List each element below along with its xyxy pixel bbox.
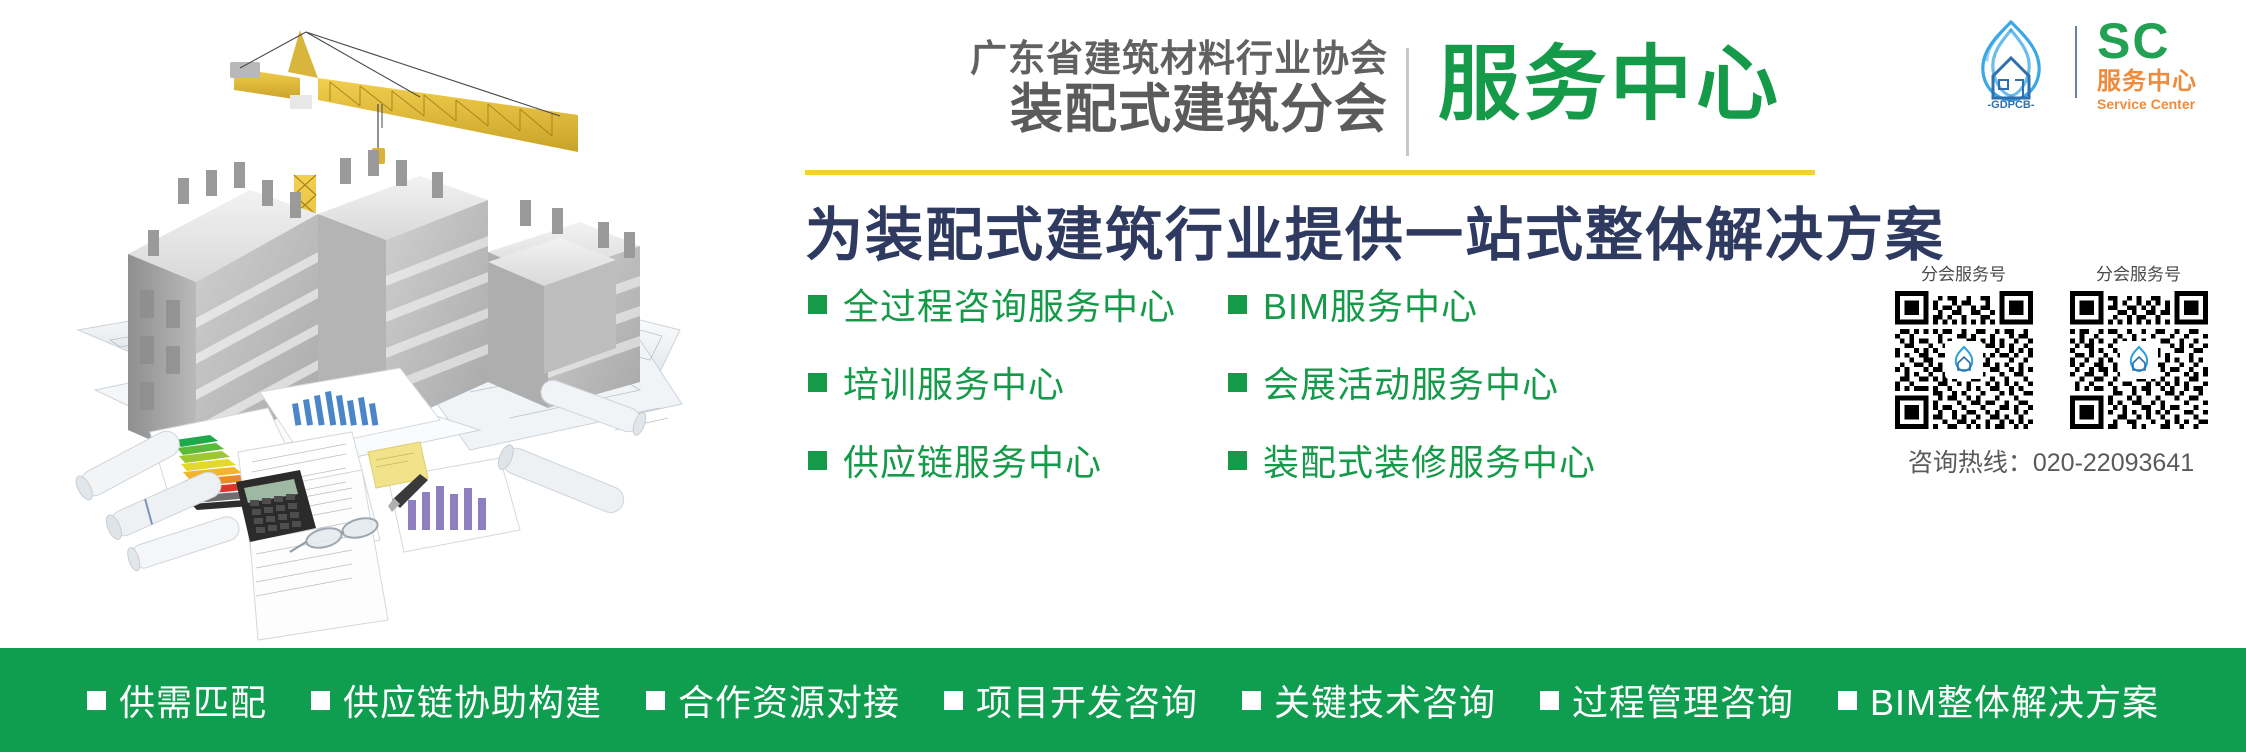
bullet-square-icon bbox=[944, 691, 963, 710]
footer-item-label: 项目开发咨询 bbox=[976, 674, 1198, 726]
service-item-supply-chain[interactable]: 供应链服务中心 bbox=[808, 434, 1228, 486]
promotional-banner: 广东省建筑材料行业协会 装配式建筑分会 服务中心 为装配式建筑行业提供一站式整体… bbox=[0, 0, 2246, 752]
construction-site-illustration bbox=[0, 0, 690, 650]
qr-codes-row bbox=[1876, 291, 2226, 429]
header-divider bbox=[1406, 48, 1409, 156]
sc-logo-block: SC 服务中心 Service Center bbox=[2097, 18, 2227, 113]
sc-wordmark: SC bbox=[2097, 18, 2227, 66]
gdpcb-house-flame-icon: -GDPCB- bbox=[1955, 14, 2067, 110]
qr-code-right[interactable] bbox=[2070, 291, 2208, 429]
tagline: 为装配式建筑行业提供一站式整体解决方案 bbox=[805, 188, 1945, 272]
service-center-list: 全过程咨询服务中心 BIM服务中心 培训服务中心 会展活动服务中心 bbox=[808, 278, 1868, 512]
bullet-square-icon bbox=[1228, 295, 1247, 314]
footer-item-supply-demand-matching[interactable]: 供需匹配 bbox=[87, 674, 267, 726]
bullet-square-icon bbox=[1228, 373, 1247, 392]
service-row: 供应链服务中心 装配式装修服务中心 bbox=[808, 434, 1868, 486]
association-name-line2: 装配式建筑分会 bbox=[808, 82, 1388, 138]
bullet-square-icon bbox=[808, 295, 827, 314]
service-item-label: 全过程咨询服务中心 bbox=[843, 278, 1176, 330]
qr-cell-left bbox=[1876, 291, 2051, 429]
bullet-square-icon bbox=[1242, 691, 1261, 710]
footer-item-key-technology-consulting[interactable]: 关键技术咨询 bbox=[1242, 674, 1496, 726]
footer-item-bim-overall-solution[interactable]: BIM整体解决方案 bbox=[1838, 674, 2159, 726]
hotline-text: 咨询热线：020-22093641 bbox=[1876, 443, 2226, 479]
footer-item-partner-resource-matching[interactable]: 合作资源对接 bbox=[646, 674, 900, 726]
brand-logo[interactable]: -GDPCB- SC 服务中心 Service Center bbox=[1955, 12, 2225, 112]
service-row: 培训服务中心 会展活动服务中心 bbox=[808, 356, 1868, 408]
service-item-prefab-decoration[interactable]: 装配式装修服务中心 bbox=[1228, 434, 1768, 486]
service-item-label: 会展活动服务中心 bbox=[1263, 356, 1559, 408]
qr-cell-right bbox=[2051, 291, 2226, 429]
yellow-divider-rule bbox=[805, 170, 1815, 175]
footer-item-label: 合作资源对接 bbox=[678, 674, 900, 726]
association-name: 广东省建筑材料行业协会 装配式建筑分会 bbox=[808, 40, 1388, 138]
service-item-exhibition-events[interactable]: 会展活动服务中心 bbox=[1228, 356, 1768, 408]
footer-item-label: 供应链协助构建 bbox=[343, 674, 602, 726]
service-item-label: 供应链服务中心 bbox=[843, 434, 1102, 486]
association-name-line1: 广东省建筑材料行业协会 bbox=[808, 40, 1388, 77]
qr-labels: 分会服务号 分会服务号 bbox=[1876, 260, 2226, 285]
qr-center-logo-icon bbox=[2120, 341, 2158, 379]
bullet-square-icon bbox=[646, 691, 665, 710]
qr-contact-block: 分会服务号 分会服务号 bbox=[1876, 260, 2226, 479]
logo-divider bbox=[2075, 26, 2077, 98]
footer-capability-bar: 供需匹配 供应链协助构建 合作资源对接 项目开发咨询 关键技术咨询 过程管理咨询 bbox=[0, 648, 2246, 752]
bullet-square-icon bbox=[1838, 691, 1857, 710]
bullet-square-icon bbox=[87, 691, 106, 710]
footer-item-process-management-consulting[interactable]: 过程管理咨询 bbox=[1540, 674, 1794, 726]
bullet-square-icon bbox=[808, 451, 827, 470]
qr-code-left[interactable] bbox=[1895, 291, 2033, 429]
bullet-square-icon bbox=[808, 373, 827, 392]
service-item-label: BIM服务中心 bbox=[1263, 278, 1478, 330]
sc-chinese-label: 服务中心 bbox=[2097, 68, 2227, 97]
footer-item-project-development-consulting[interactable]: 项目开发咨询 bbox=[944, 674, 1198, 726]
service-center-title: 服务中心 bbox=[1438, 42, 1782, 128]
qr-center-logo-icon bbox=[1945, 341, 1983, 379]
footer-item-label: 供需匹配 bbox=[119, 674, 267, 726]
service-item-label: 装配式装修服务中心 bbox=[1263, 434, 1596, 486]
service-row: 全过程咨询服务中心 BIM服务中心 bbox=[808, 278, 1868, 330]
sc-english-label: Service Center bbox=[2097, 96, 2227, 113]
footer-items: 供需匹配 供应链协助构建 合作资源对接 项目开发咨询 关键技术咨询 过程管理咨询 bbox=[65, 674, 2181, 726]
footer-item-label: 关键技术咨询 bbox=[1274, 674, 1496, 726]
service-item-training[interactable]: 培训服务中心 bbox=[808, 356, 1228, 408]
qr-label-right: 分会服务号 bbox=[2051, 260, 2226, 285]
footer-item-label: 过程管理咨询 bbox=[1572, 674, 1794, 726]
bullet-square-icon bbox=[311, 691, 330, 710]
bullet-square-icon bbox=[1228, 451, 1247, 470]
gdpcb-wordmark: -GDPCB- bbox=[1987, 99, 2034, 110]
service-item-bim[interactable]: BIM服务中心 bbox=[1228, 278, 1768, 330]
service-item-full-process-consulting[interactable]: 全过程咨询服务中心 bbox=[808, 278, 1228, 330]
footer-item-supply-chain-build[interactable]: 供应链协助构建 bbox=[311, 674, 602, 726]
qr-label-left: 分会服务号 bbox=[1876, 260, 2051, 285]
service-item-label: 培训服务中心 bbox=[843, 356, 1065, 408]
bullet-square-icon bbox=[1540, 691, 1559, 710]
footer-item-label: BIM整体解决方案 bbox=[1870, 674, 2159, 726]
